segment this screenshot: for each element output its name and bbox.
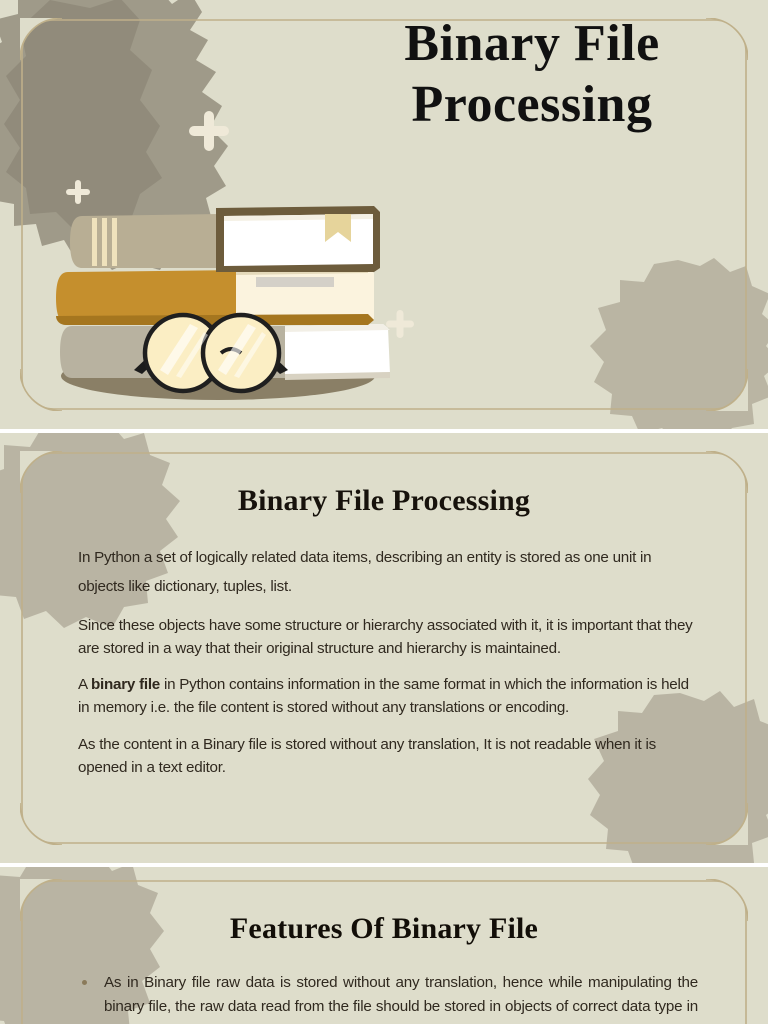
list-item-text: As in Binary file raw data is stored wit…: [104, 974, 698, 1024]
paragraph: A binary file in Python contains informa…: [78, 673, 694, 719]
section-title: Binary File Processing: [0, 458, 768, 518]
page-title-line1: Binary File: [332, 14, 732, 75]
paragraph-text: As the content in a Binary file is store…: [78, 736, 656, 776]
body-copy: In Python a set of logically related dat…: [78, 543, 694, 779]
paragraph: In Python a set of logically related dat…: [78, 543, 694, 601]
paragraph-text: in Python contains information in the sa…: [78, 676, 689, 716]
plus-sparkle-icon: [186, 108, 232, 154]
paragraph: As the content in a Binary file is store…: [78, 733, 694, 779]
watercolor-splotch-right: [590, 258, 768, 429]
slide-binary-file-processing: Binary File Processing In Python a set o…: [0, 433, 768, 863]
paragraph-text: Since these objects have some structure …: [78, 617, 693, 657]
paragraph-text: A: [78, 676, 91, 693]
paragraph-text: In Python a set of logically related dat…: [78, 549, 651, 595]
books-illustration: [38, 178, 408, 403]
feature-list: As in Binary file raw data is stored wit…: [78, 971, 698, 1024]
emphasis-text: binary file: [91, 676, 160, 693]
section-title: Features Of Binary File: [0, 892, 768, 946]
bullet-dot-icon: [82, 980, 87, 985]
list-item: As in Binary file raw data is stored wit…: [78, 971, 698, 1024]
page-title-line2: Processing: [332, 75, 732, 136]
slide-title: Binary File Processing: [0, 0, 768, 429]
slide-features-of-binary-file: Features Of Binary File As in Binary fil…: [0, 867, 768, 1024]
paragraph: Since these objects have some structure …: [78, 614, 694, 660]
slide-deck: Binary File Processing: [0, 0, 768, 1024]
page-title: Binary File Processing: [332, 14, 732, 136]
